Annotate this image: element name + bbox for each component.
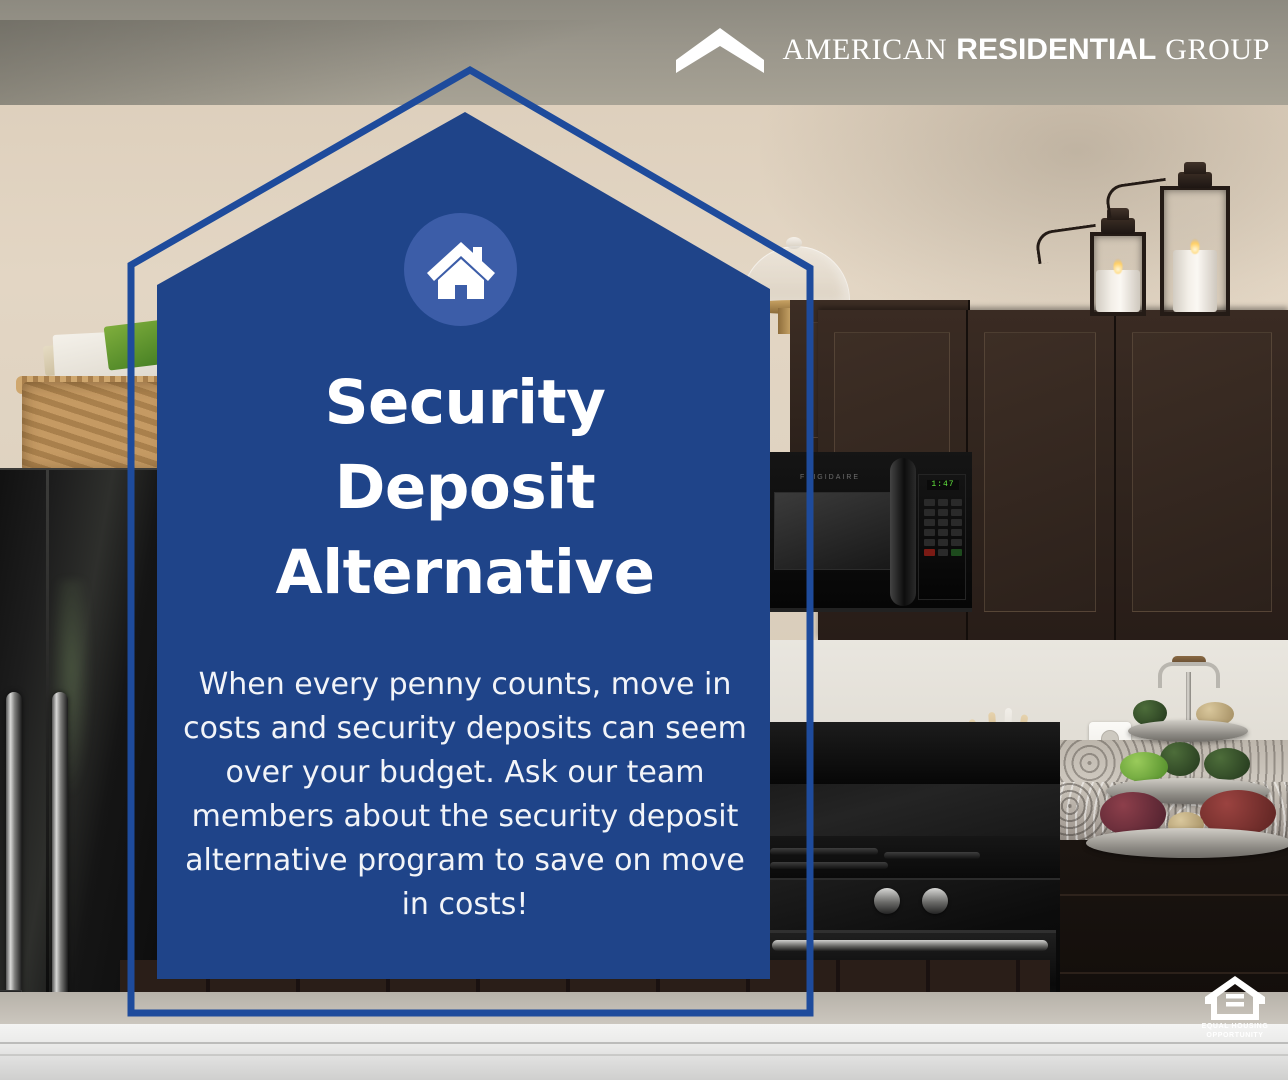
- brand-word-american: AMERICAN: [782, 33, 947, 67]
- headline-line-3: Alternative: [160, 530, 770, 615]
- headline-line-1: Security: [160, 360, 770, 445]
- promo-text-block: Security Deposit Alternative When every …: [160, 360, 770, 927]
- chevron-roof-icon: [676, 26, 764, 74]
- headline-line-2: Deposit: [160, 445, 770, 530]
- promo-graphic: wicker-basket-with-snack-bags FRIGIDAIRE…: [0, 0, 1288, 1080]
- brand-name: AMERICAN RESIDENTIAL GROUP: [782, 33, 1270, 67]
- equal-housing-caption: EQUAL HOUSING OPPORTUNITY: [1198, 1023, 1272, 1040]
- equal-housing-logo: EQUAL HOUSING OPPORTUNITY: [1198, 975, 1272, 1040]
- eho-caption-line-1: EQUAL HOUSING: [1198, 1023, 1272, 1032]
- equal-housing-house-icon: [1204, 975, 1266, 1021]
- house-icon: [424, 239, 498, 301]
- brand-word-group: GROUP: [1165, 33, 1270, 67]
- brand-lockup: AMERICAN RESIDENTIAL GROUP: [676, 26, 1270, 74]
- brand-word-residential: RESIDENTIAL: [956, 33, 1156, 67]
- eho-caption-line-2: OPPORTUNITY: [1198, 1032, 1272, 1041]
- promo-body-copy: When every penny counts, move in costs a…: [160, 663, 770, 927]
- house-icon-badge: [404, 213, 517, 326]
